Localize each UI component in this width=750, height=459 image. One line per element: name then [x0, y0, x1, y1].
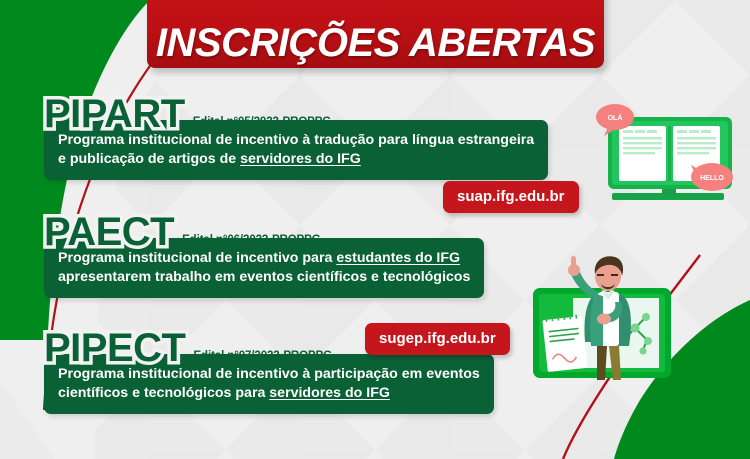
program-description-line: e publicação de artigos de servidores do… — [58, 150, 534, 169]
poster-root: INSCRIÇÕES ABERTAS PIPART Edital n°05/20… — [0, 0, 750, 459]
teacher-presenting-illustration — [525, 250, 750, 395]
program-edital: Edital n°07/2022-PROPPG — [193, 350, 331, 368]
header-banner-title: INSCRIÇÕES ABERTAS — [156, 23, 595, 63]
program-edital: Edital n°06/2022-PROPPG — [182, 234, 320, 252]
desc-text-emphasis: servidores do IFG — [269, 385, 390, 401]
book-spine — [668, 126, 671, 181]
desc-text: científicos e tecnológicos para — [58, 385, 269, 401]
program-header: PIPART Edital n°05/2022-PROPPG — [44, 96, 548, 134]
url-badge-label: suap.ifg.edu.br — [457, 188, 565, 205]
teacher-eye-left — [597, 274, 604, 276]
speech-bubble-hello-label: HELLO — [700, 175, 724, 182]
teacher-hand-across — [597, 314, 611, 325]
program-edital: Edital n°05/2022-PROPPG — [193, 116, 331, 134]
desc-text-emphasis: estudantes do IFG — [336, 250, 460, 266]
desc-text: e publicação de artigos de — [58, 151, 240, 167]
open-book-illustration: OLÁ HELLO — [590, 103, 750, 203]
teacher-eye-right — [611, 274, 618, 276]
speech-bubble-ola-label: OLÁ — [608, 113, 623, 122]
program-block-paect: PAECT Edital n°06/2022-PROPPG Programa i… — [44, 214, 484, 298]
desc-text-emphasis: servidores do IFG — [240, 151, 361, 167]
url-badge-suap[interactable]: suap.ifg.edu.br — [443, 181, 579, 213]
notepad-icon — [542, 315, 587, 372]
program-acronym: PIPART — [44, 96, 185, 134]
url-badge-label: sugep.ifg.edu.br — [379, 330, 496, 347]
program-header: PAECT Edital n°06/2022-PROPPG — [44, 214, 484, 252]
teacher-finger-pointing — [571, 256, 576, 269]
program-description-line: científicos e tecnológicos para servidor… — [58, 384, 480, 403]
desc-text: apresentarem trabalho em eventos científ… — [58, 269, 470, 285]
speech-bubble-hello-icon: HELLO — [691, 163, 733, 191]
url-badge-sugep[interactable]: sugep.ifg.edu.br — [365, 323, 510, 355]
header-banner: INSCRIÇÕES ABERTAS — [147, 0, 604, 68]
program-acronym: PAECT — [44, 214, 174, 252]
program-block-pipart: PIPART Edital n°05/2022-PROPPG Programa … — [44, 96, 548, 180]
program-description-line: apresentarem trabalho em eventos científ… — [58, 268, 470, 287]
program-acronym: PIPECT — [44, 330, 185, 368]
